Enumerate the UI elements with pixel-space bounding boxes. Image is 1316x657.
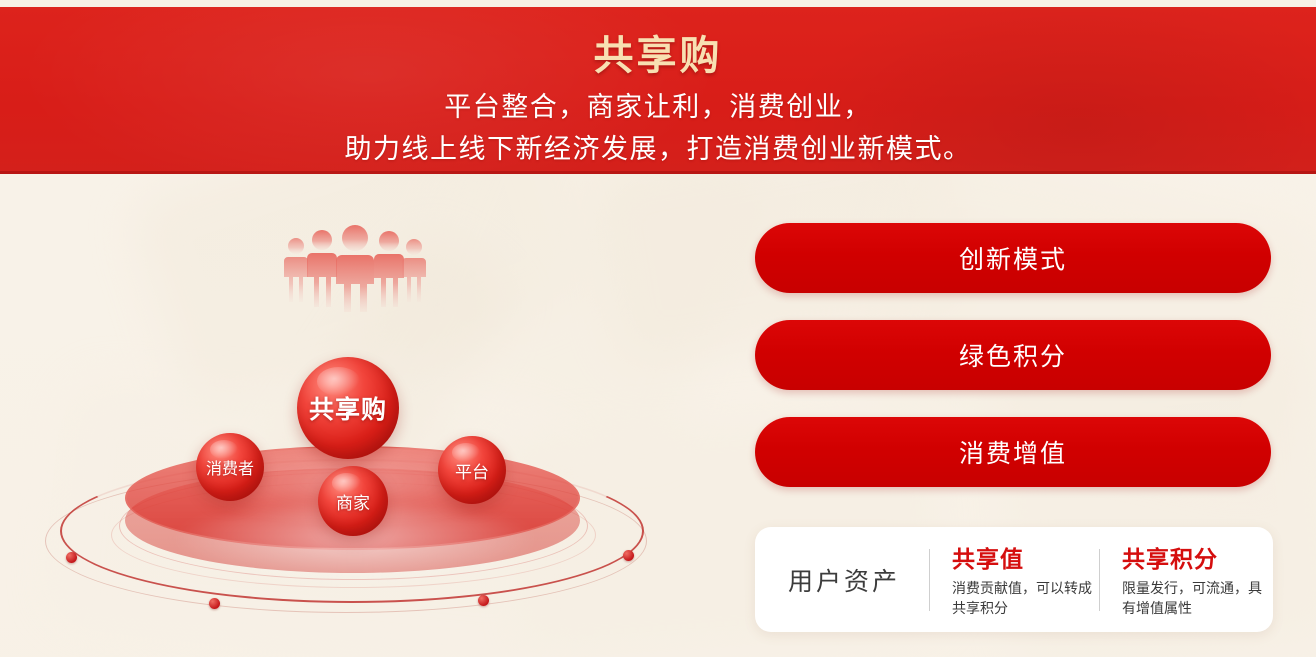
- people-group-icon: [283, 224, 428, 314]
- feature-button-green-points[interactable]: 绿色积分: [755, 320, 1271, 390]
- promo-banner: 共享购 平台整合，商家让利，消费创业， 助力线上线下新经济发展，打造消费创业新模…: [0, 0, 1316, 657]
- sphere-consumer: 消费者: [196, 433, 264, 501]
- asset-column-share-value: 共享值 消费贡献值，可以转成共享积分: [930, 540, 1099, 620]
- feature-button-green-points-label: 绿色积分: [959, 337, 1067, 373]
- asset-column-share-value-title: 共享值: [952, 540, 1099, 574]
- sphere-platform-label: 平台: [455, 458, 489, 483]
- sphere-merchant: 商家: [318, 466, 388, 536]
- sphere-main-label: 共享购: [309, 390, 387, 426]
- feature-button-consumption-value[interactable]: 消费增值: [755, 417, 1271, 487]
- header-subtitle-line-1: 平台整合，商家让利，消费创业，: [0, 85, 1316, 124]
- feature-button-innovation[interactable]: 创新模式: [755, 223, 1271, 293]
- header-subtitle-line-2: 助力线上线下新经济发展，打造消费创业新模式。: [0, 127, 1316, 166]
- asset-column-share-points-desc: 限量发行，可流通，具有增值属性: [1122, 579, 1269, 620]
- orbit-dot: [209, 598, 220, 609]
- header-banner: 共享购 平台整合，商家让利，消费创业， 助力线上线下新经济发展，打造消费创业新模…: [0, 7, 1316, 174]
- asset-column-share-value-desc: 消费贡献值，可以转成共享积分: [952, 579, 1099, 620]
- sphere-main-brand: 共享购: [297, 357, 399, 459]
- sphere-consumer-label: 消费者: [206, 455, 254, 479]
- asset-column-share-points-title: 共享积分: [1122, 540, 1269, 574]
- top-strip: [0, 0, 1316, 7]
- sphere-platform: 平台: [438, 436, 506, 504]
- user-asset-card: 用户资产 共享值 消费贡献值，可以转成共享积分 共享积分 限量发行，可流通，具有…: [755, 527, 1273, 632]
- orbit-dot: [623, 550, 634, 561]
- orbit-dot: [478, 595, 489, 606]
- user-asset-card-label: 用户资产: [759, 562, 929, 598]
- feature-button-consumption-value-label: 消费增值: [959, 434, 1067, 470]
- orbit-dot: [66, 552, 77, 563]
- asset-column-share-points: 共享积分 限量发行，可流通，具有增值属性: [1100, 540, 1269, 620]
- feature-button-innovation-label: 创新模式: [959, 240, 1067, 276]
- ecosystem-illustration: 消费者 平台 商家 共享购: [0, 174, 700, 657]
- page-title: 共享购: [0, 23, 1316, 81]
- sphere-merchant-label: 商家: [336, 489, 370, 514]
